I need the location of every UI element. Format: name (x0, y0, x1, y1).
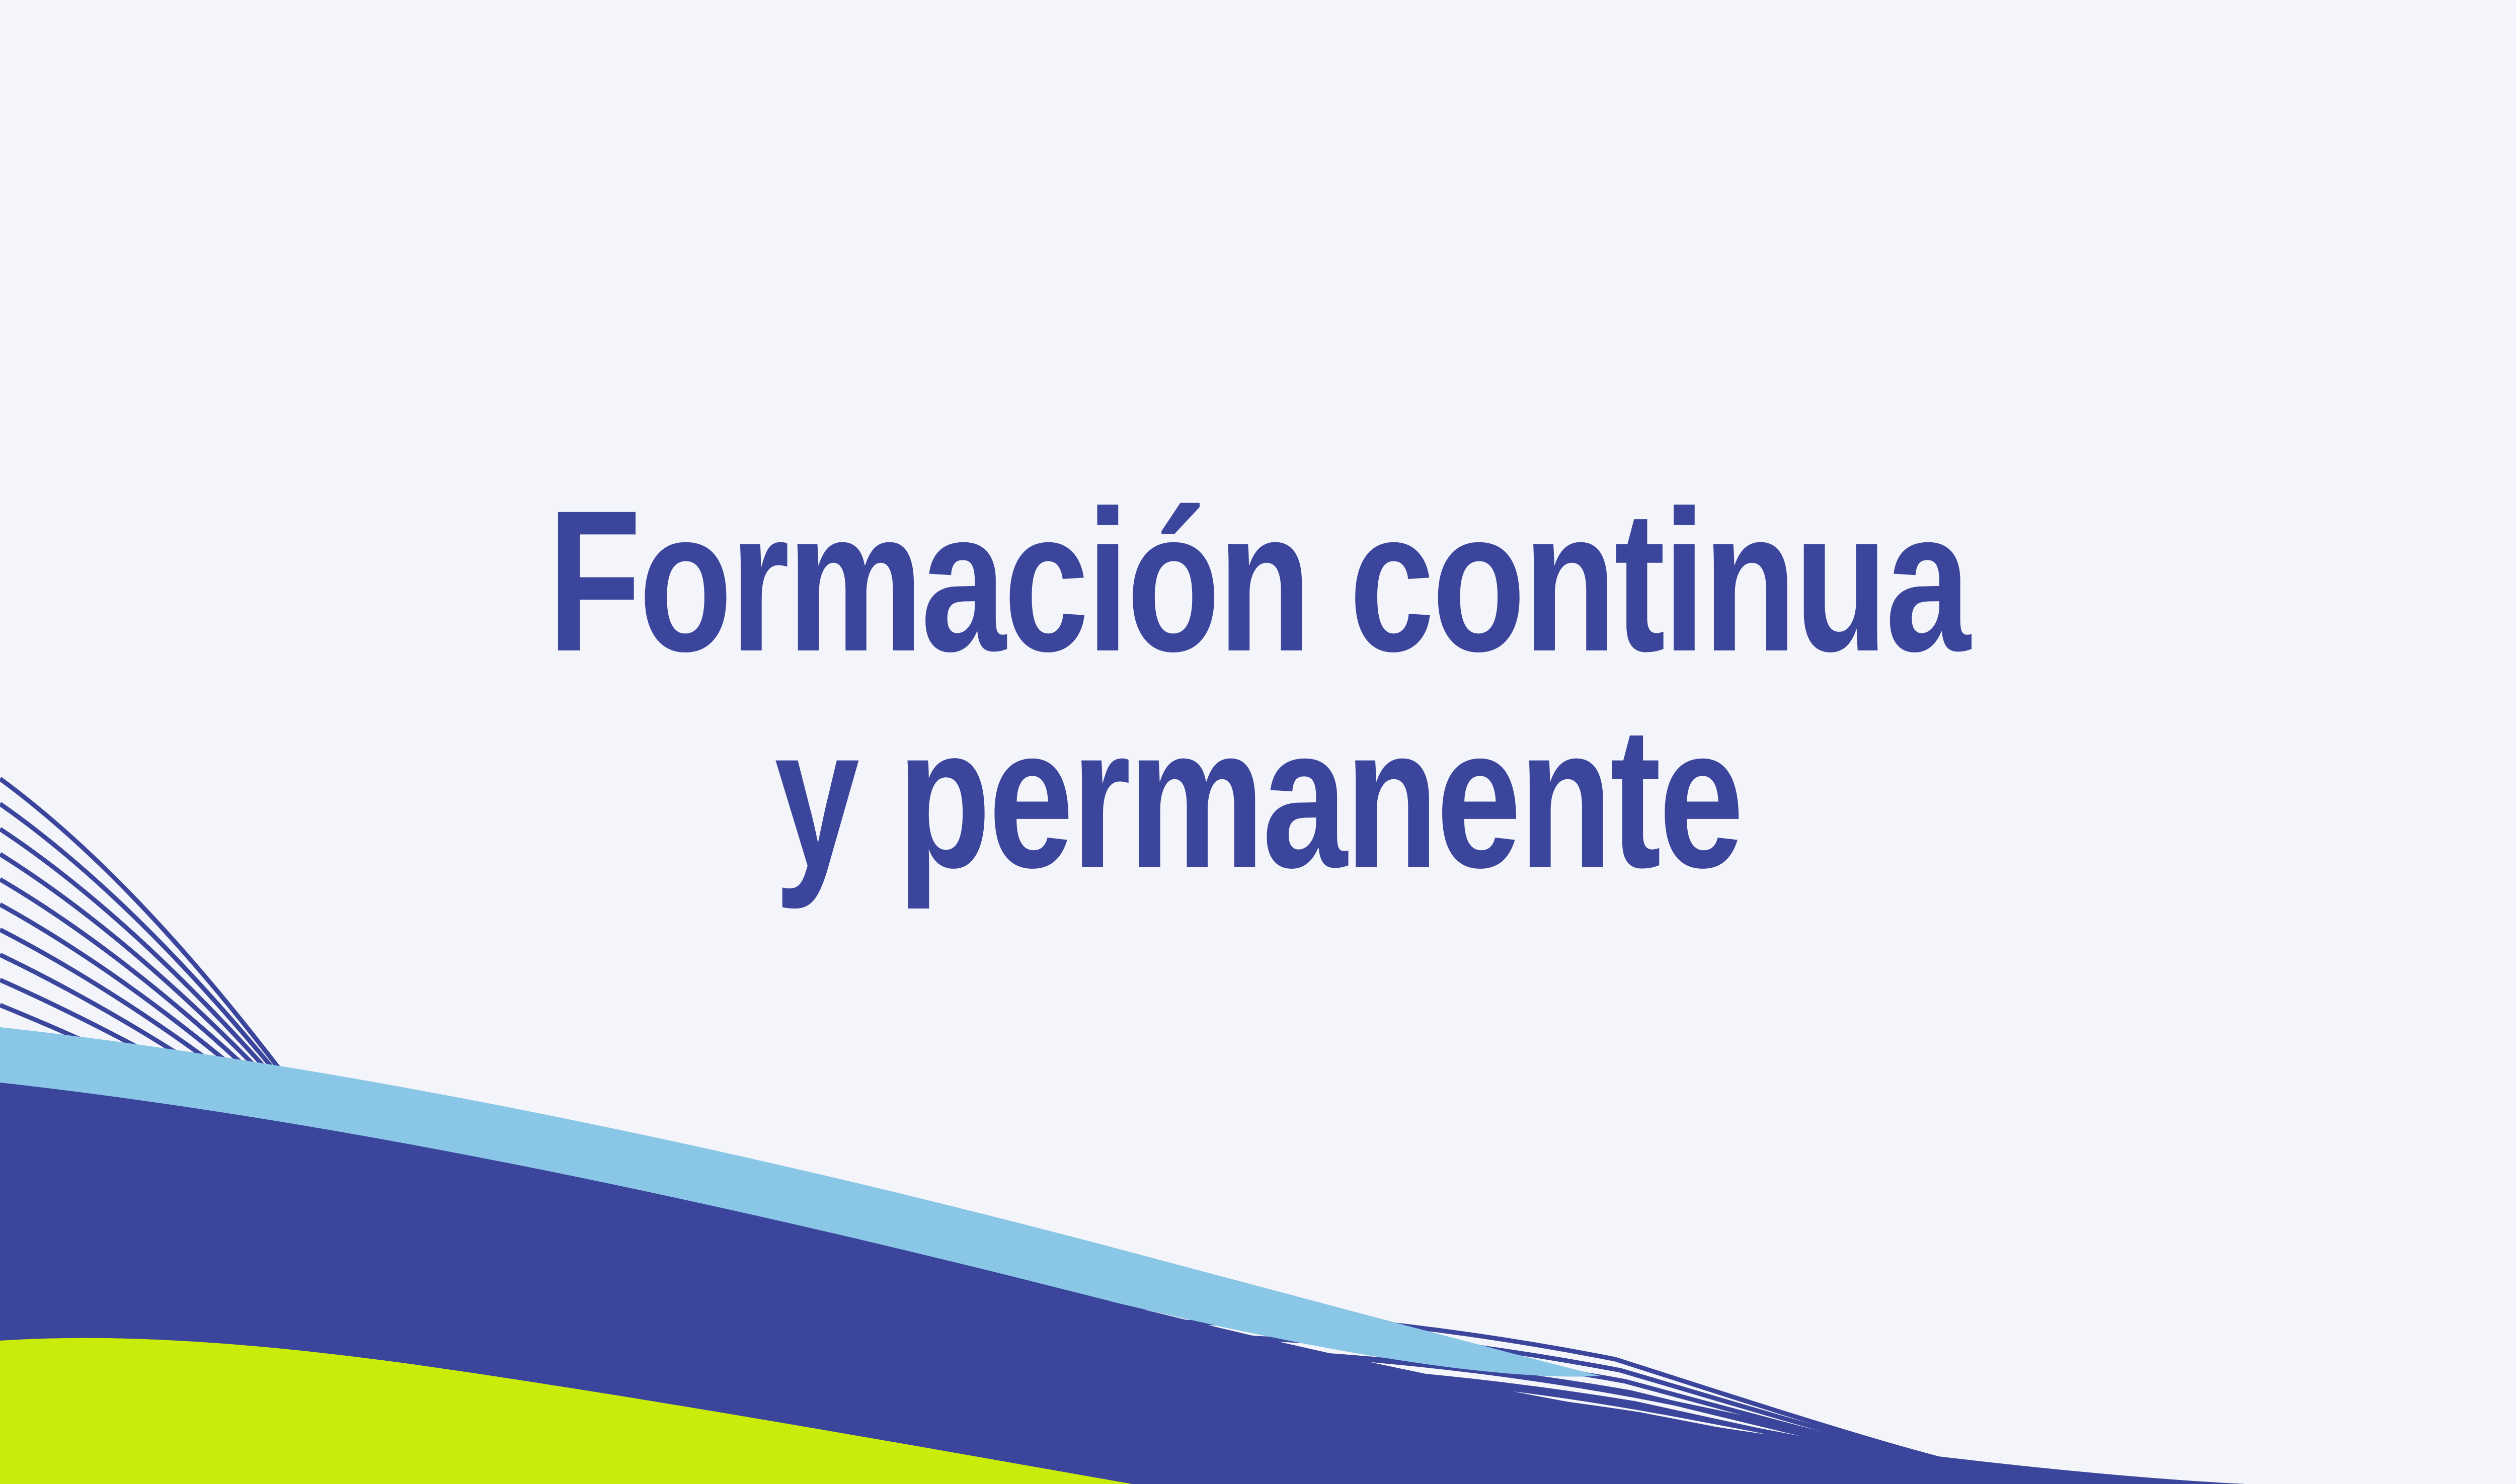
title-slide: Formación continua y permanente (0, 0, 2516, 1484)
wave-ribbon-graphic (0, 0, 2516, 1484)
